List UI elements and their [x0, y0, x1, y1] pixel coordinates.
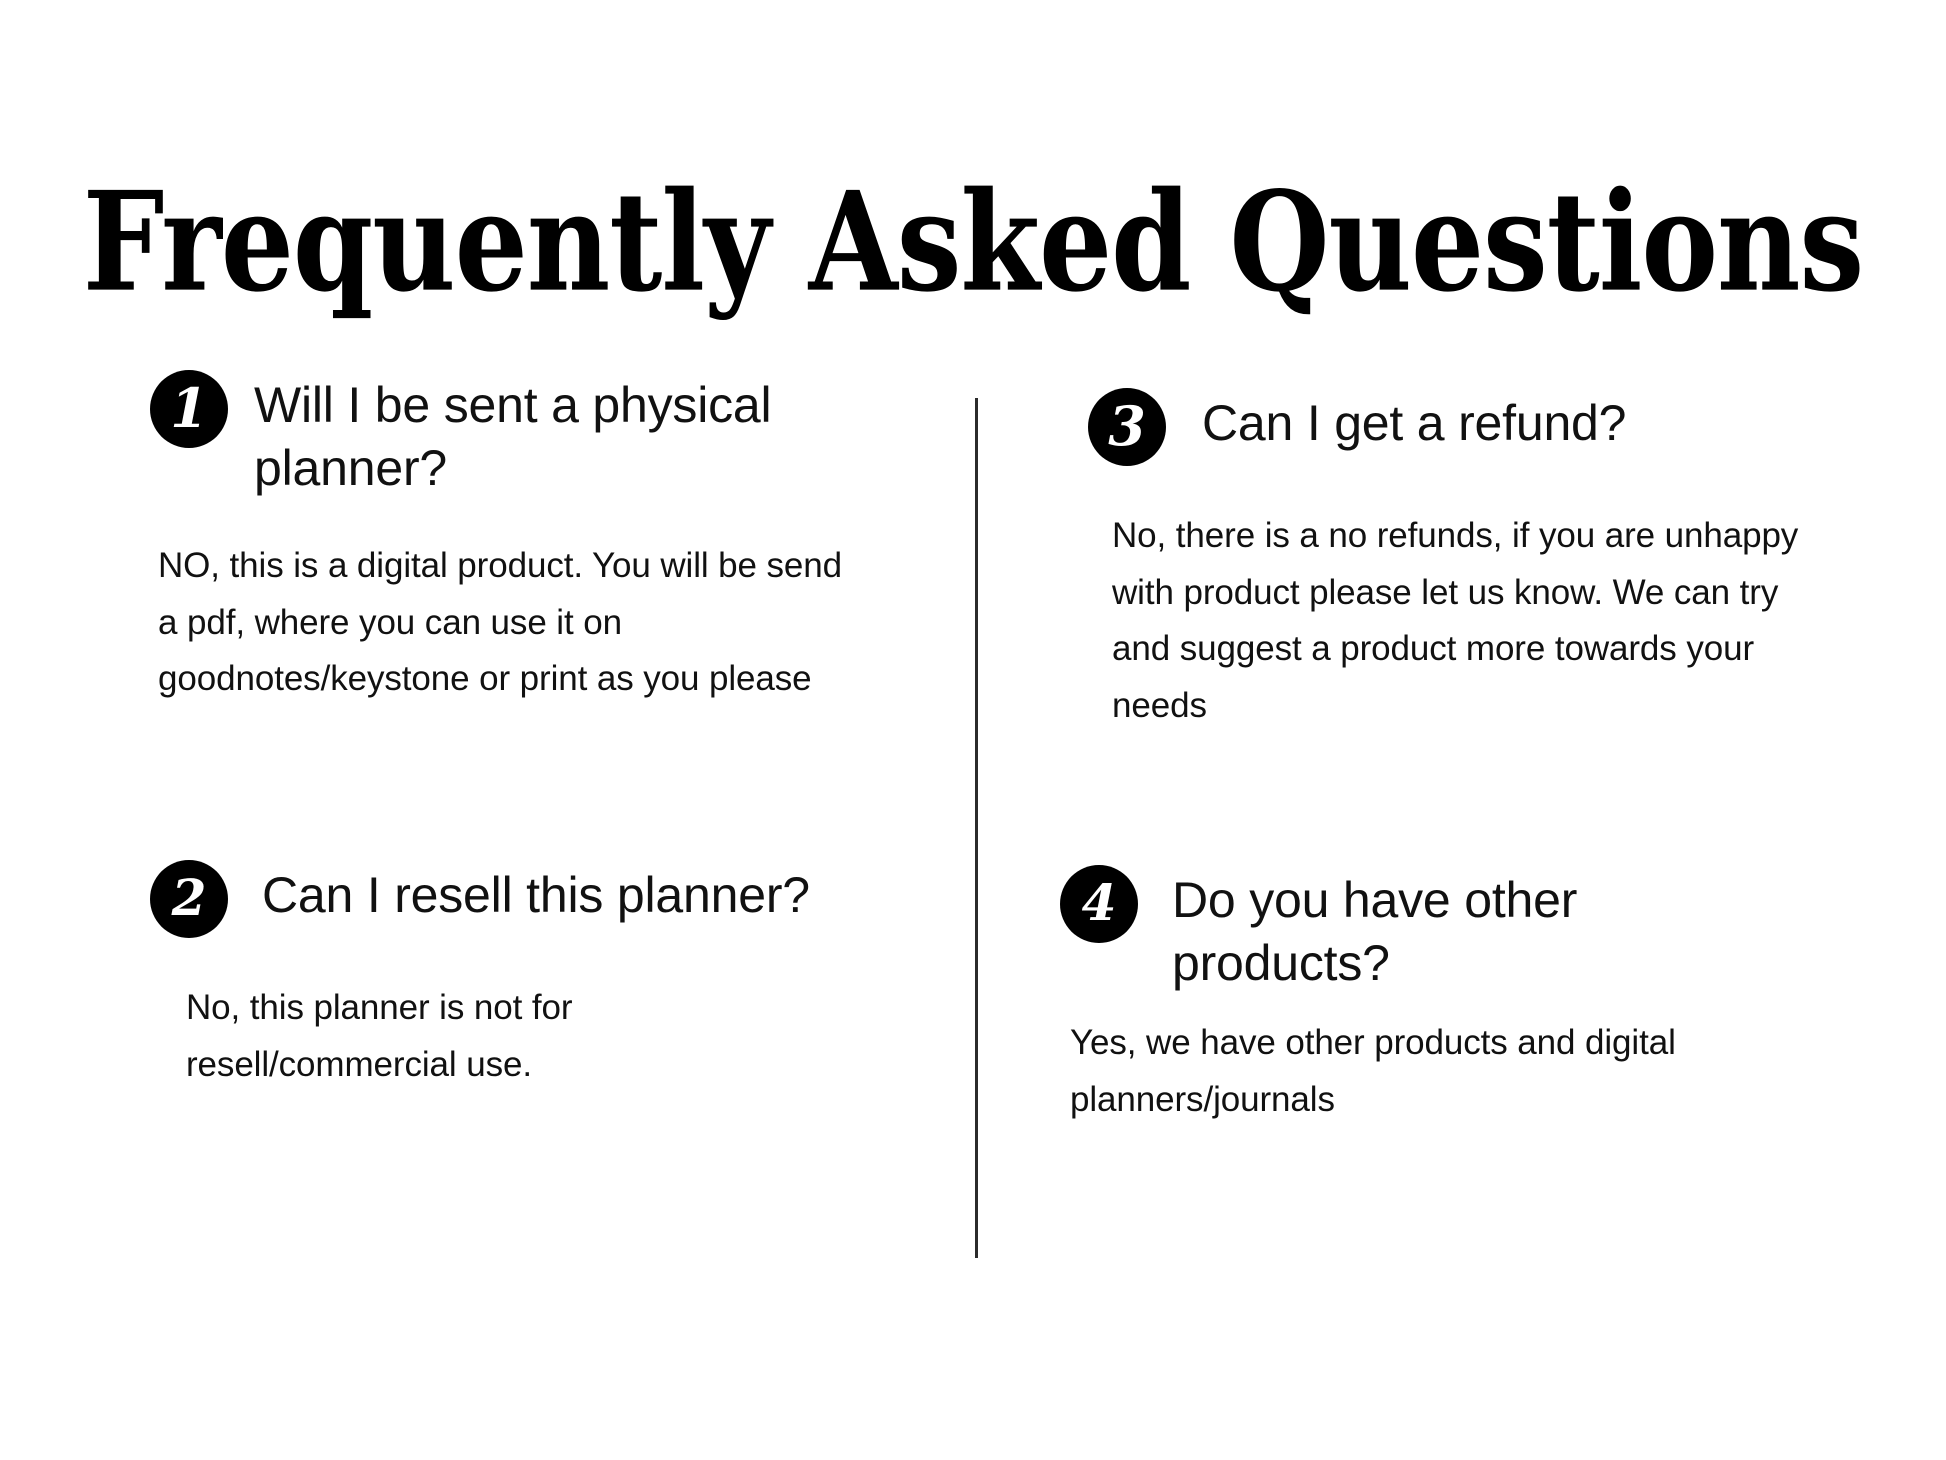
faq-item-4-header: 4 Do you have other products? — [1060, 865, 1840, 995]
faq-question-1: Will I be sent a physical planner? — [254, 370, 870, 500]
column-divider — [975, 398, 978, 1258]
faq-item-1-header: 1 Will I be sent a physical planner? — [150, 370, 870, 500]
number-badge-1-icon: 1 — [150, 370, 228, 448]
faq-answer-2: No, this planner is not for resell/comme… — [186, 980, 806, 1093]
faq-answer-4: Yes, we have other products and digital … — [1070, 1015, 1710, 1128]
faq-answer-3: No, there is a no refunds, if you are un… — [1112, 508, 1812, 735]
faq-question-4: Do you have other products? — [1172, 865, 1732, 995]
faq-question-3: Can I get a refund? — [1202, 388, 1626, 455]
faq-item-2: 2 Can I resell this planner? No, this pl… — [150, 860, 890, 1093]
number-badge-2-icon: 2 — [150, 860, 228, 938]
faq-question-2: Can I resell this planner? — [262, 860, 810, 927]
number-badge-3-icon: 3 — [1088, 388, 1166, 466]
faq-item-2-header: 2 Can I resell this planner? — [150, 860, 890, 938]
faq-page: Frequently Asked Questions 1 Will I be s… — [0, 0, 1946, 1460]
faq-item-1: 1 Will I be sent a physical planner? NO,… — [150, 370, 870, 708]
faq-answer-1: NO, this is a digital product. You will … — [158, 538, 848, 708]
faq-item-3: 3 Can I get a refund? No, there is a no … — [1060, 388, 1820, 735]
faq-item-4: 4 Do you have other products? Yes, we ha… — [1060, 865, 1840, 1128]
number-badge-4-icon: 4 — [1060, 865, 1138, 943]
faq-item-3-header: 3 Can I get a refund? — [1060, 388, 1820, 466]
faq-columns: 1 Will I be sent a physical planner? NO,… — [0, 0, 1946, 1460]
